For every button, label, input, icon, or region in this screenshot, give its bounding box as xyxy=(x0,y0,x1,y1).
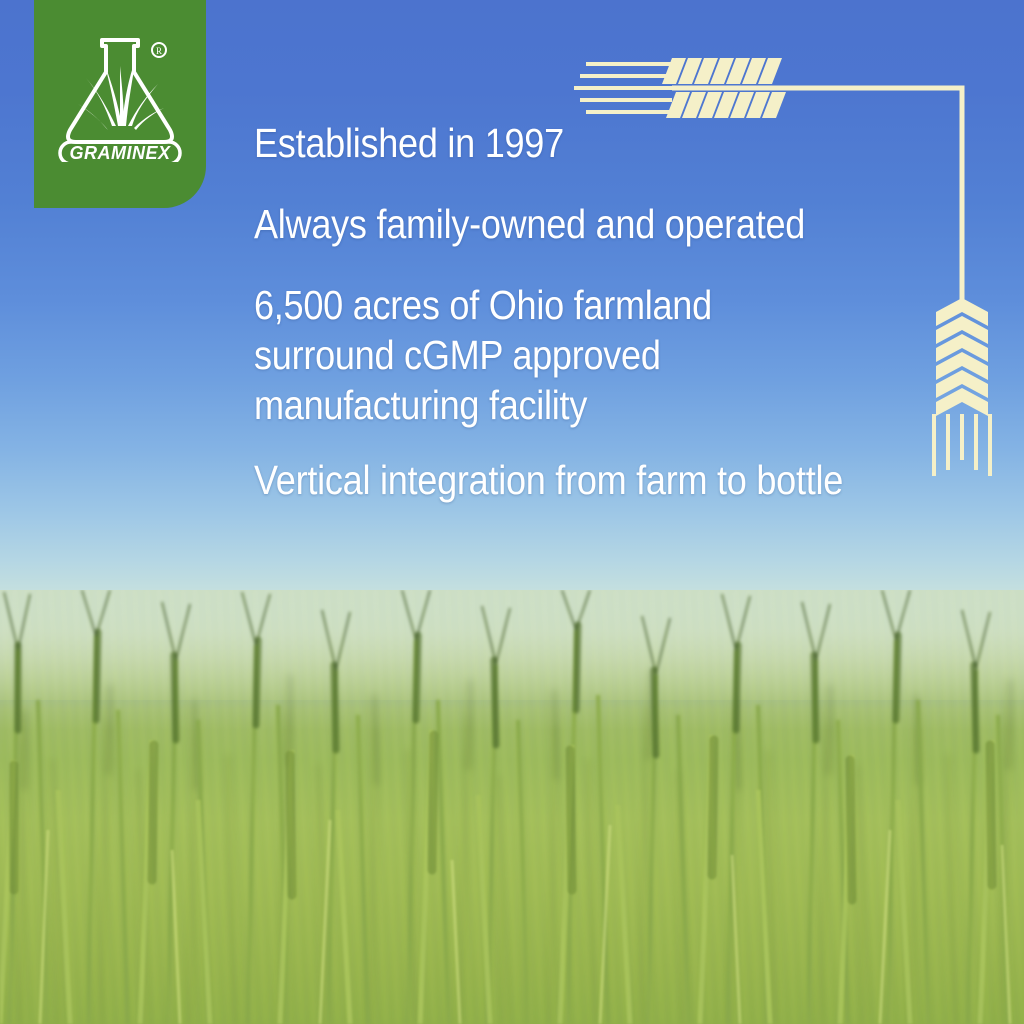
feature-copy-list: Established in 1997 Always family-owned … xyxy=(254,118,944,505)
copy-line-vertical-integration: Vertical integration from farm to bottle xyxy=(254,455,861,505)
promo-graphic: R GRAMINEX Established in 1997 Always fa xyxy=(0,0,1024,1024)
field-texture-overlay xyxy=(0,590,1024,1024)
copy-line-family-owned: Always family-owned and operated xyxy=(254,199,861,249)
svg-text:R: R xyxy=(156,46,162,56)
flask-with-grass-icon: R GRAMINEX xyxy=(54,26,186,162)
field-background xyxy=(0,590,1024,1024)
copy-line-established: Established in 1997 xyxy=(254,118,861,168)
brand-logo-block[interactable]: R GRAMINEX xyxy=(34,0,206,208)
copy-line-acreage: 6,500 acres of Ohio farmland surround cG… xyxy=(254,280,861,430)
brand-name-text: GRAMINEX xyxy=(69,143,170,162)
